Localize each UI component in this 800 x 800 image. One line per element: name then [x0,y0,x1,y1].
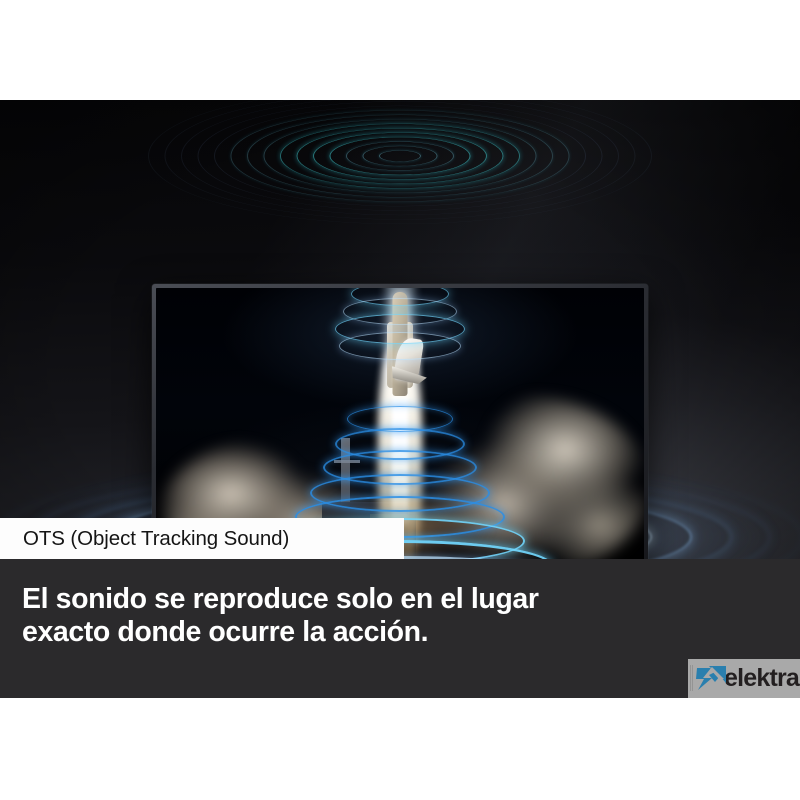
caption-text: El sonido se reproduce solo en el lugare… [22,583,539,649]
elektra-wordmark: elektra [724,666,799,691]
letterbox-bottom [0,698,800,800]
space-shuttle-icon [371,292,429,408]
upper-sound-ripples [150,100,650,214]
ots-label-text: OTS (Object Tracking Sound) [0,527,289,551]
letterbox-top [0,0,800,100]
poster-image: OTS (Object Tracking Sound) El sonido se… [0,0,800,800]
ots-label: OTS (Object Tracking Sound) [0,518,404,559]
launch-tower-arm [334,460,360,463]
watermark-bars [690,665,694,691]
caption-line-1: El sonido se reproduce solo en el lugar [22,583,539,615]
caption-band: El sonido se reproduce solo en el lugare… [0,559,800,698]
elektra-watermark: elektra [688,659,800,698]
caption-line-2: exacto donde ocurre la acción. [22,616,428,648]
elektra-arrow-mark-icon [695,663,729,694]
